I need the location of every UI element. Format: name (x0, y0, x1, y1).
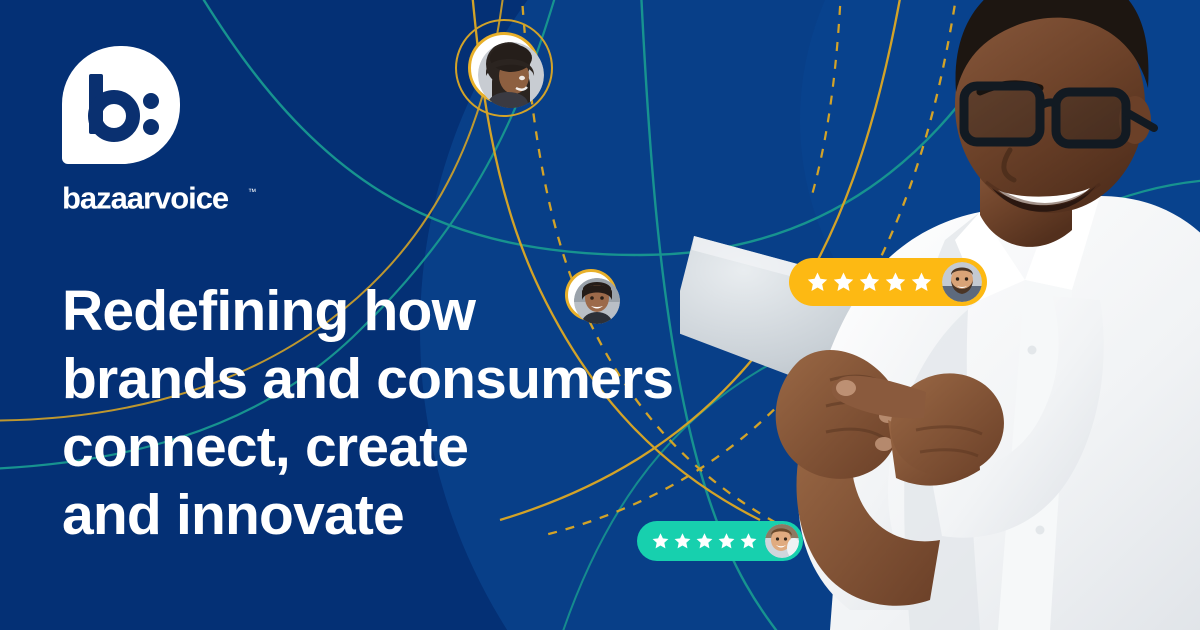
page-title: Redefining how brands and consumers conn… (62, 277, 762, 549)
bazaarvoice-logo[interactable]: bazaarvoice ™ (62, 46, 280, 218)
rating-badge-gold (789, 258, 987, 306)
star-icon (910, 271, 933, 293)
wordmark-text: bazaarvoice ™ (62, 184, 280, 216)
star-icon (806, 271, 829, 293)
star-icon (695, 532, 714, 550)
star-rating-teal (651, 532, 758, 550)
star-icon (717, 532, 736, 550)
logo-b-colon-glyph (62, 46, 180, 164)
bazaarvoice-logo-mark (62, 46, 180, 164)
star-rating-gold (806, 271, 933, 293)
star-icon (884, 271, 907, 293)
headline-line-3: connect, create (62, 413, 762, 481)
bazaarvoice-wordmark: bazaarvoice ™ (62, 184, 280, 218)
bearded-man-avatar (942, 262, 982, 302)
star-icon (651, 532, 670, 550)
star-icon (832, 271, 855, 293)
eyeglasses (964, 86, 1154, 144)
rating-badge-teal (637, 521, 803, 561)
network-node-avatar-1 (471, 35, 537, 101)
headline-line-2: brands and consumers (62, 345, 762, 413)
smiling-man-avatar (765, 524, 799, 558)
star-icon (673, 532, 692, 550)
svg-text:™: ™ (248, 186, 256, 196)
headline-line-1: Redefining how (62, 277, 762, 345)
star-icon (739, 532, 758, 550)
bazaarvoice-hero-banner: bazaarvoice ™ Redefining how brands and … (0, 0, 1200, 630)
svg-text:bazaarvoice: bazaarvoice (62, 184, 229, 215)
star-icon (858, 271, 881, 293)
